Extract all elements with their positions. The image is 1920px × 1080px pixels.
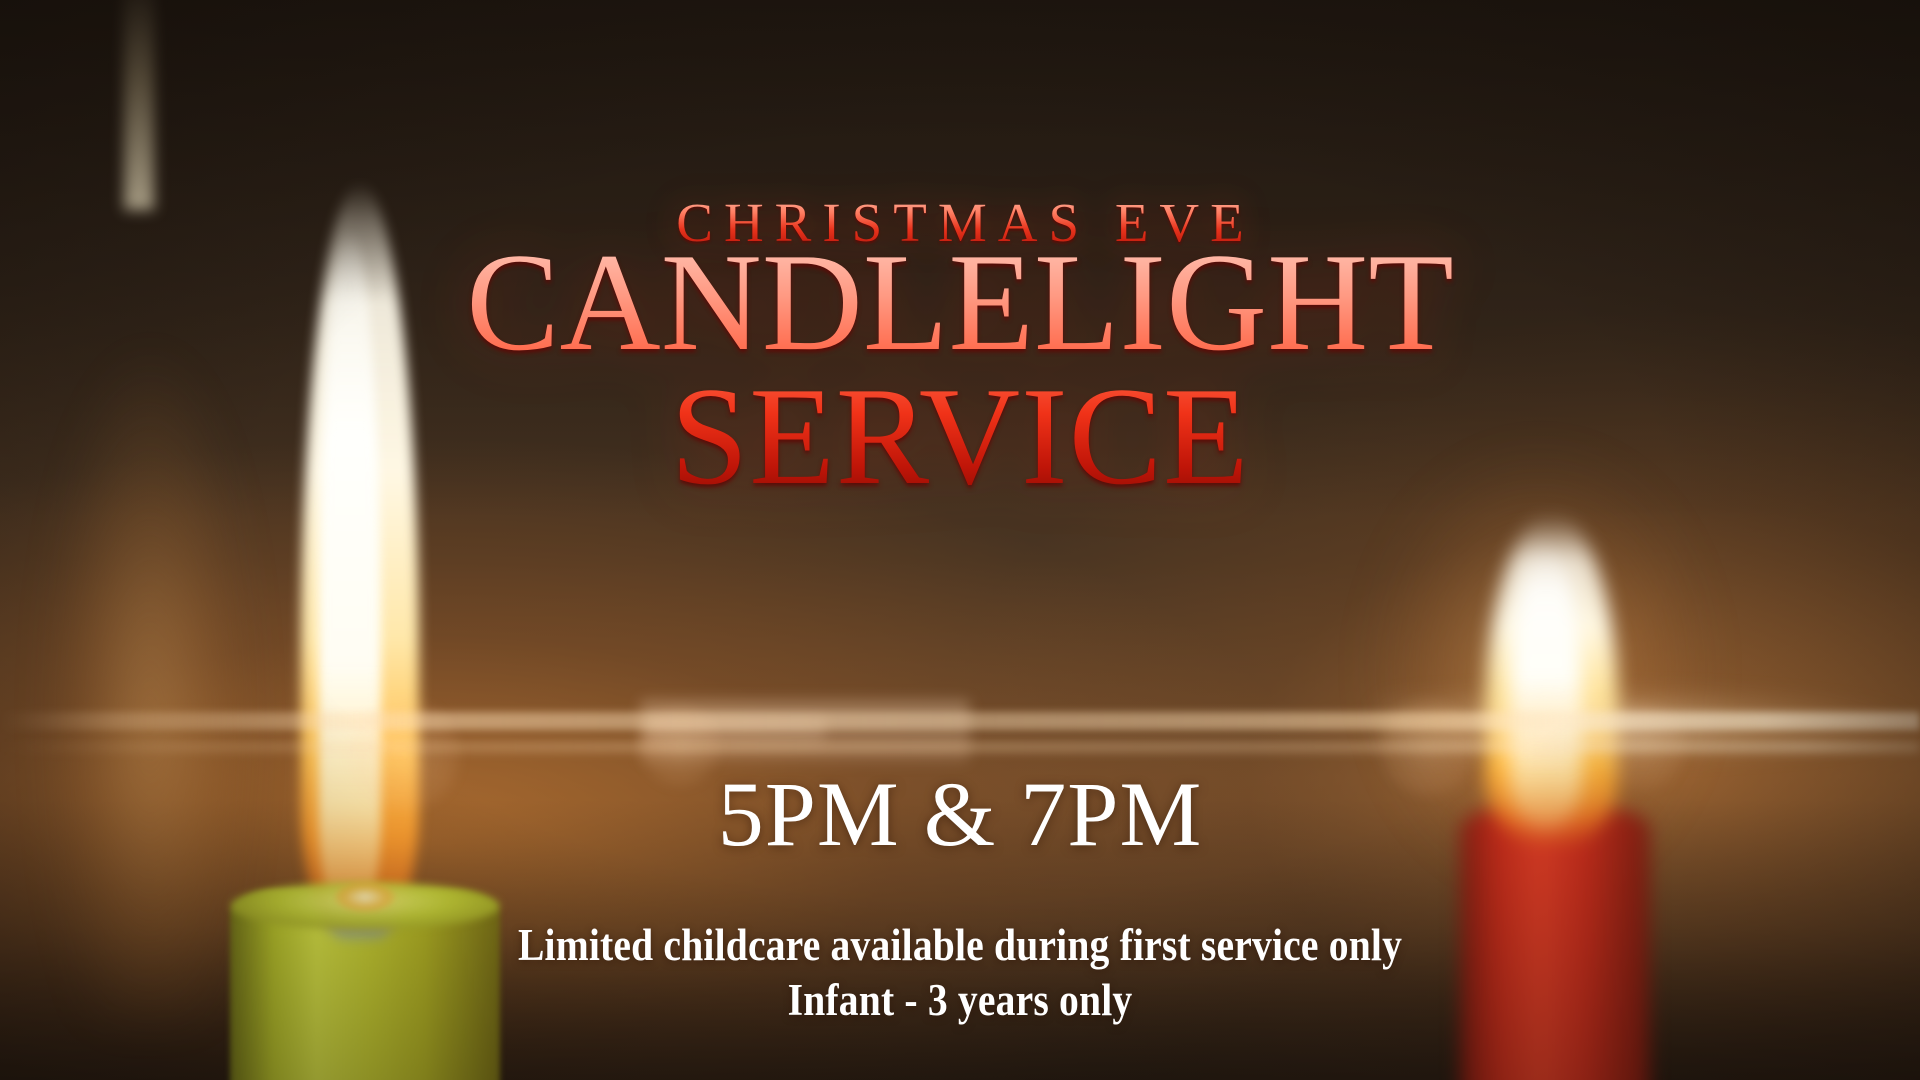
childcare-note-line-1: Limited childcare available during first… bbox=[518, 920, 1402, 970]
candlelight-service-slide: CHRISTMAS EVE CANDLELIGHT SERVICE 5PM & … bbox=[0, 0, 1920, 1080]
childcare-note-line-2: Infant - 3 years only bbox=[115, 973, 1805, 1028]
headline-line-2: SERVICE bbox=[0, 370, 1920, 504]
service-times: 5PM & 7PM bbox=[0, 768, 1920, 860]
headline-line-1: CANDLELIGHT bbox=[466, 225, 1454, 380]
childcare-note: Limited childcare available during first… bbox=[115, 918, 1805, 1028]
headline: CANDLELIGHT SERVICE bbox=[0, 236, 1920, 505]
